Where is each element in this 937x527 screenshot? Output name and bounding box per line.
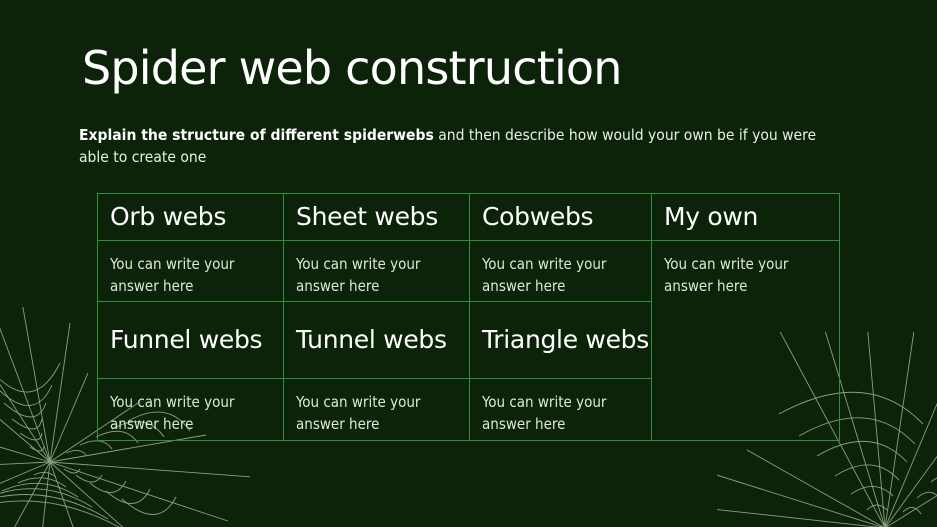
table-header-tunnel-webs[interactable]: Tunnel webs bbox=[283, 301, 470, 379]
table-header-sheet-webs[interactable]: Sheet webs bbox=[283, 193, 470, 241]
table-answer-orb-webs[interactable]: You can write your answer here bbox=[97, 240, 284, 302]
cell-label: Tunnel webs bbox=[296, 326, 447, 355]
cell-answer-text: You can write your answer here bbox=[296, 254, 457, 298]
slide-canvas: Spider web construction Explain the stru… bbox=[0, 0, 937, 527]
cell-label: Orb webs bbox=[110, 203, 226, 232]
cell-label: Funnel webs bbox=[110, 326, 262, 355]
cell-answer-text: You can write your answer here bbox=[110, 392, 271, 436]
table-answer-sheet-webs[interactable]: You can write your answer here bbox=[283, 240, 470, 302]
table-answer-cobwebs[interactable]: You can write your answer here bbox=[469, 240, 652, 302]
table-header-funnel-webs[interactable]: Funnel webs bbox=[97, 301, 284, 379]
table-header-my-own[interactable]: My own bbox=[651, 193, 840, 241]
table-header-triangle-webs[interactable]: Triangle webs bbox=[469, 301, 652, 379]
cell-answer-text: You can write your answer here bbox=[110, 254, 271, 298]
cell-answer-text: You can write your answer here bbox=[482, 254, 639, 298]
table-header-orb-webs[interactable]: Orb webs bbox=[97, 193, 284, 241]
table-answer-triangle-webs[interactable]: You can write your answer here bbox=[469, 378, 652, 441]
cell-answer-text: You can write your answer here bbox=[296, 392, 457, 436]
cell-answer-text: You can write your answer here bbox=[482, 392, 639, 436]
cell-label: Triangle webs bbox=[482, 326, 649, 355]
page-title: Spider web construction bbox=[82, 44, 622, 92]
table-header-cobwebs[interactable]: Cobwebs bbox=[469, 193, 652, 241]
cell-label: Sheet webs bbox=[296, 203, 438, 232]
cell-label: My own bbox=[664, 203, 758, 232]
subtitle-bold-text: Explain the structure of different spide… bbox=[79, 126, 434, 144]
table-answer-funnel-webs[interactable]: You can write your answer here bbox=[97, 378, 284, 441]
page-subtitle: Explain the structure of different spide… bbox=[79, 124, 839, 169]
table-answer-my-own[interactable]: You can write your answer here bbox=[651, 240, 840, 441]
cell-answer-text: You can write your answer here bbox=[664, 254, 827, 298]
spiderweb-table: Orb webs Sheet webs Cobwebs My own You c… bbox=[97, 193, 840, 441]
cell-label: Cobwebs bbox=[482, 203, 593, 232]
table-answer-tunnel-webs[interactable]: You can write your answer here bbox=[283, 378, 470, 441]
